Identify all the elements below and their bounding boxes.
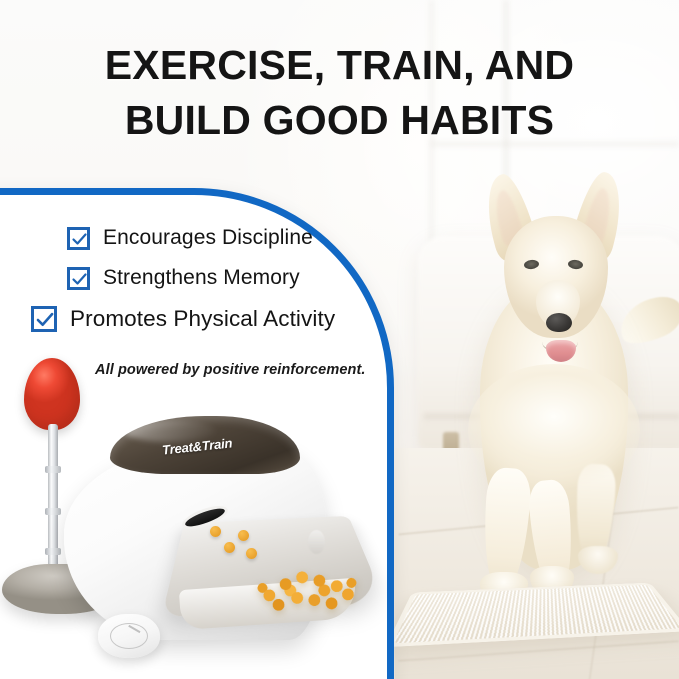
kibble-pile <box>252 554 362 617</box>
tagline: All powered by positive reinforcement. <box>95 362 395 378</box>
remote-control[interactable] <box>98 614 160 658</box>
list-item: Strengthens Memory <box>67 266 388 290</box>
falling-kibble <box>246 548 257 559</box>
dispenser-side-button[interactable] <box>308 530 325 554</box>
dog-nose <box>546 313 572 332</box>
falling-kibble <box>224 542 235 553</box>
dog <box>432 168 679 638</box>
checkmark-icon <box>67 227 90 250</box>
checklist-item-label: Promotes Physical Activity <box>70 306 335 332</box>
headline-line-2: BUILD GOOD HABITS <box>0 93 679 148</box>
falling-kibble <box>238 530 249 541</box>
falling-kibble <box>210 526 221 537</box>
checklist-item-label: Encourages Discipline <box>103 226 313 250</box>
page-title: EXERCISE, TRAIN, AND BUILD GOOD HABITS <box>0 38 679 148</box>
dog-tail <box>613 288 679 351</box>
checkmark-icon <box>67 267 90 290</box>
dog-hind-paw <box>578 546 618 574</box>
list-item: Encourages Discipline <box>67 226 388 250</box>
checklist-item-label: Strengthens Memory <box>103 266 300 290</box>
headline-line-1: EXERCISE, TRAIN, AND <box>0 38 679 93</box>
list-item: Promotes Physical Activity <box>31 306 388 332</box>
benefits-checklist: Encourages Discipline Strengthens Memory… <box>58 226 388 348</box>
checkmark-icon <box>31 306 57 332</box>
